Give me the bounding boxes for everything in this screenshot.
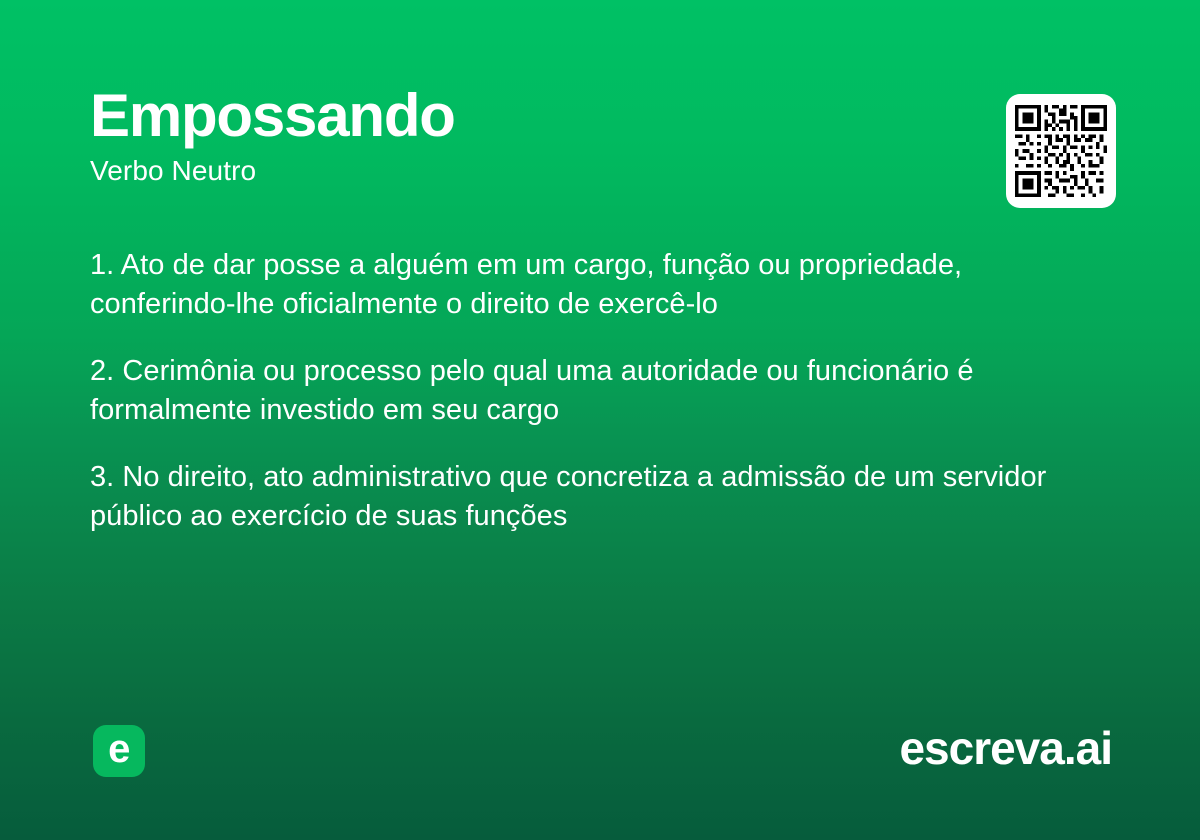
definition-list: 1. Ato de dar posse a alguém em um cargo… — [90, 246, 1080, 536]
definition-item-1: 1. Ato de dar posse a alguém em um cargo… — [90, 246, 1080, 324]
qr-code-icon — [1015, 103, 1107, 199]
brand-logo: e — [93, 725, 145, 777]
qr-code-container[interactable] — [1006, 94, 1116, 208]
definition-item-2: 2. Cerimônia ou processo pelo qual uma a… — [90, 352, 1080, 430]
word-class-label: Verbo Neutro — [90, 156, 970, 187]
word-definition-card: Empossando Verbo Neutro — [0, 0, 1200, 840]
definition-item-3: 3. No direito, ato administrativo que co… — [90, 458, 1080, 536]
page-title: Empossando — [90, 84, 970, 147]
card-header: Empossando Verbo Neutro — [90, 84, 970, 187]
brand-logo-letter: e — [108, 729, 130, 769]
brand-wordmark: escreva.ai — [899, 723, 1112, 774]
